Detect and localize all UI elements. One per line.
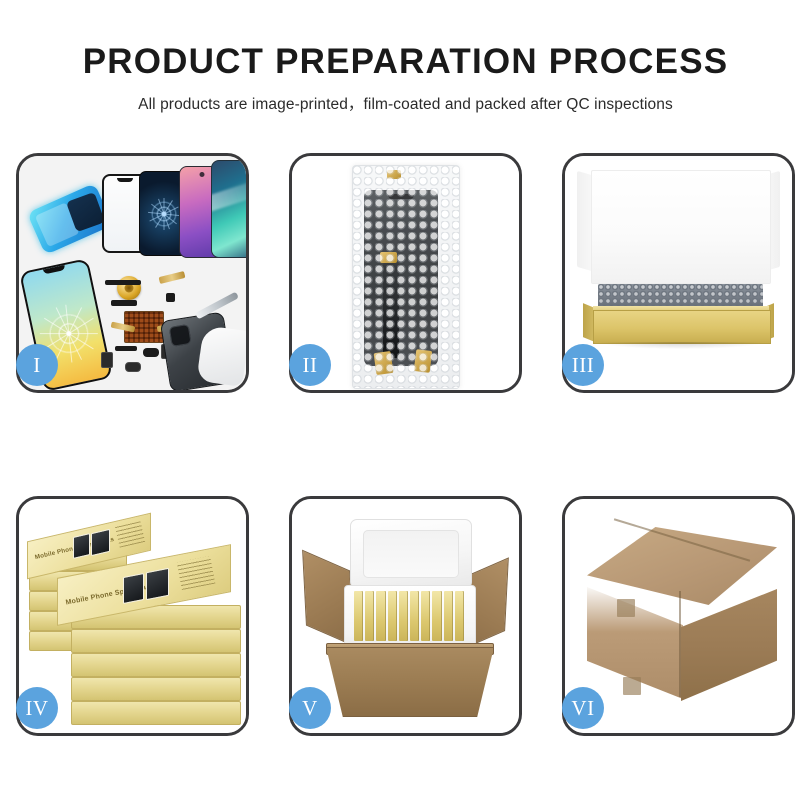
process-step-panel-3[interactable]: III <box>562 153 795 393</box>
small-part-icon <box>166 293 175 302</box>
step-badge-3: III <box>562 344 604 386</box>
carton-right-face-icon <box>681 589 777 701</box>
teal-phone-screen-icon <box>211 160 246 258</box>
step-badge-2: II <box>289 344 331 386</box>
header: PRODUCT PREPARATION PROCESS All products… <box>0 0 811 114</box>
page-title: PRODUCT PREPARATION PROCESS <box>0 44 811 81</box>
process-step-panel-5[interactable]: V <box>289 496 522 736</box>
earpiece-speaker-icon <box>105 280 141 285</box>
sim-tray-icon <box>101 352 113 368</box>
step-badge-4: IV <box>16 687 58 729</box>
retail-box-photo-rear <box>73 533 90 559</box>
small-part-icon <box>125 362 141 372</box>
blue-screen-film-icon <box>27 183 113 255</box>
process-step-panel-1[interactable]: I <box>16 153 249 393</box>
gold-contact-icon <box>413 349 432 373</box>
carton-tape-patch-icon <box>617 599 635 617</box>
process-step-panel-6[interactable]: VI <box>562 496 795 736</box>
gold-contact-icon <box>373 351 393 375</box>
retail-box-photo-front <box>123 573 144 604</box>
camera-module-icon <box>143 348 159 357</box>
process-step-panel-2[interactable]: II <box>289 153 522 393</box>
retail-box-edge <box>71 653 241 677</box>
step-badge-5: V <box>289 687 331 729</box>
carton-tape-patch-icon <box>623 677 641 695</box>
crack-pattern-icon <box>147 197 181 231</box>
retail-box-photo-rear <box>91 529 110 556</box>
bubble-wrap-package-illustration <box>352 165 460 389</box>
carton-vertical-edge-icon <box>679 591 681 697</box>
packed-gold-boxes-icon <box>354 591 464 641</box>
step-badge-1: I <box>16 344 58 386</box>
gold-contact-icon <box>380 252 397 263</box>
small-part-icon <box>115 346 137 351</box>
wrapped-flex-cable-icon <box>383 262 399 358</box>
retail-box-photo-front <box>146 568 169 600</box>
flex-cable-icon <box>159 271 186 284</box>
box-shadow-icon <box>599 342 763 349</box>
box-lid-icon <box>591 170 771 284</box>
small-part-icon <box>111 300 137 306</box>
process-step-grid: I II <box>16 153 795 736</box>
product-preparation-process-page: PRODUCT PREPARATION PROCESS All products… <box>0 0 811 811</box>
page-subtitle: All products are image-printed，film-coat… <box>0 92 811 114</box>
wrapped-screen-icon <box>364 190 438 366</box>
box-front-panel-icon <box>593 310 771 344</box>
retail-box-edge <box>71 677 241 701</box>
stacked-retail-boxes-illustration: Mobile Phone Spare Parts Mobile Phone Sp… <box>27 509 242 727</box>
retail-box-edge <box>71 701 241 725</box>
process-step-panel-4[interactable]: Mobile Phone Spare Parts Mobile Phone Sp… <box>16 496 249 736</box>
retail-box-edge <box>71 629 241 653</box>
carton-body-icon <box>326 647 494 717</box>
step-badge-6: VI <box>562 687 604 729</box>
foam-box-lid-icon <box>350 519 472 589</box>
gold-contact-icon <box>387 170 401 179</box>
